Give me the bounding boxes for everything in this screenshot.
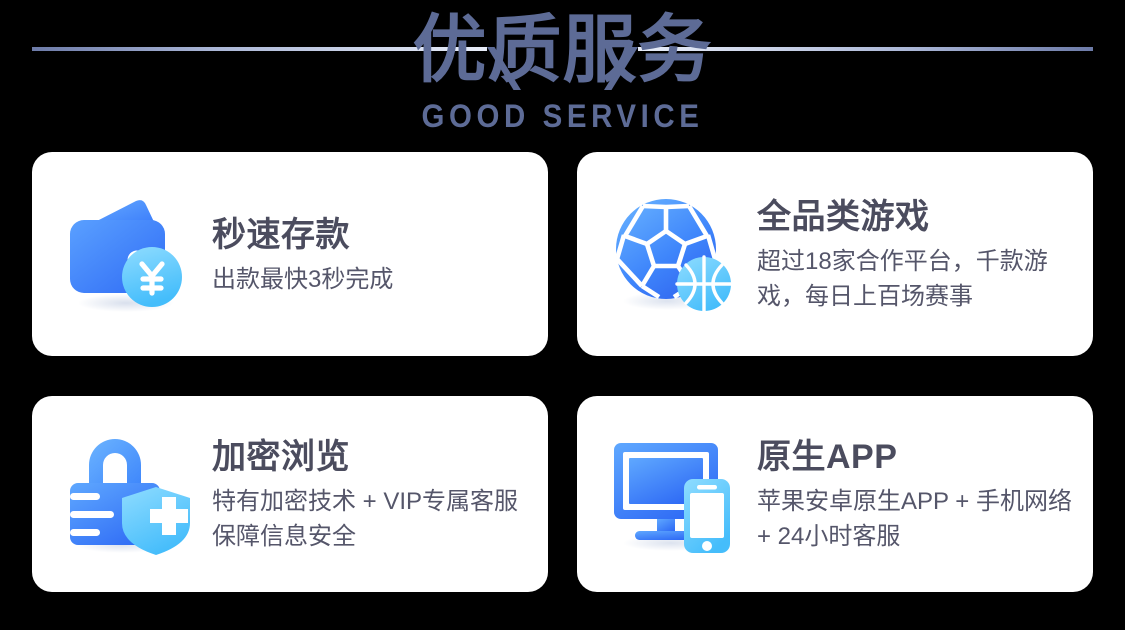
header: 优质服务 GOOD SERVICE	[0, 0, 1125, 142]
card-text-encryption: 加密浏览 特有加密技术 + VIP专属客服保障信息安全	[212, 434, 548, 554]
feature-card-native-app[interactable]: 原生APP 苹果安卓原生APP + 手机网络 + 24小时客服	[577, 396, 1093, 592]
card-title: 全品类游戏	[757, 194, 1079, 240]
good-service-panel: 优质服务 GOOD SERVICE	[0, 0, 1125, 630]
feature-card-grid: 秒速存款 出款最快3秒完成	[32, 152, 1093, 592]
page-title: 优质服务	[0, 7, 1125, 93]
page-subtitle: GOOD SERVICE	[45, 98, 1080, 134]
monitor-phone-icon	[609, 427, 743, 561]
feature-card-games[interactable]: 全品类游戏 超过18家合作平台，千款游戏，每日上百场赛事	[577, 152, 1093, 356]
card-text-deposit: 秒速存款 出款最快3秒完成	[212, 212, 407, 297]
card-title: 加密浏览	[212, 434, 534, 480]
card-description: 特有加密技术 + VIP专属客服保障信息安全	[212, 484, 534, 554]
feature-card-deposit[interactable]: 秒速存款 出款最快3秒完成	[32, 152, 548, 356]
card-text-games: 全品类游戏 超过18家合作平台，千款游戏，每日上百场赛事	[757, 194, 1093, 314]
card-description: 出款最快3秒完成	[212, 262, 393, 297]
card-title: 秒速存款	[212, 212, 393, 258]
card-description: 苹果安卓原生APP + 手机网络 + 24小时客服	[757, 484, 1079, 554]
card-description: 超过18家合作平台，千款游戏，每日上百场赛事	[757, 244, 1079, 314]
soccer-basketball-icon	[609, 187, 743, 321]
card-title: 原生APP	[757, 434, 1079, 480]
feature-card-encryption[interactable]: 加密浏览 特有加密技术 + VIP专属客服保障信息安全	[32, 396, 548, 592]
card-text-native-app: 原生APP 苹果安卓原生APP + 手机网络 + 24小时客服	[757, 434, 1093, 554]
wallet-yen-icon	[64, 187, 198, 321]
lock-shield-icon	[64, 427, 198, 561]
